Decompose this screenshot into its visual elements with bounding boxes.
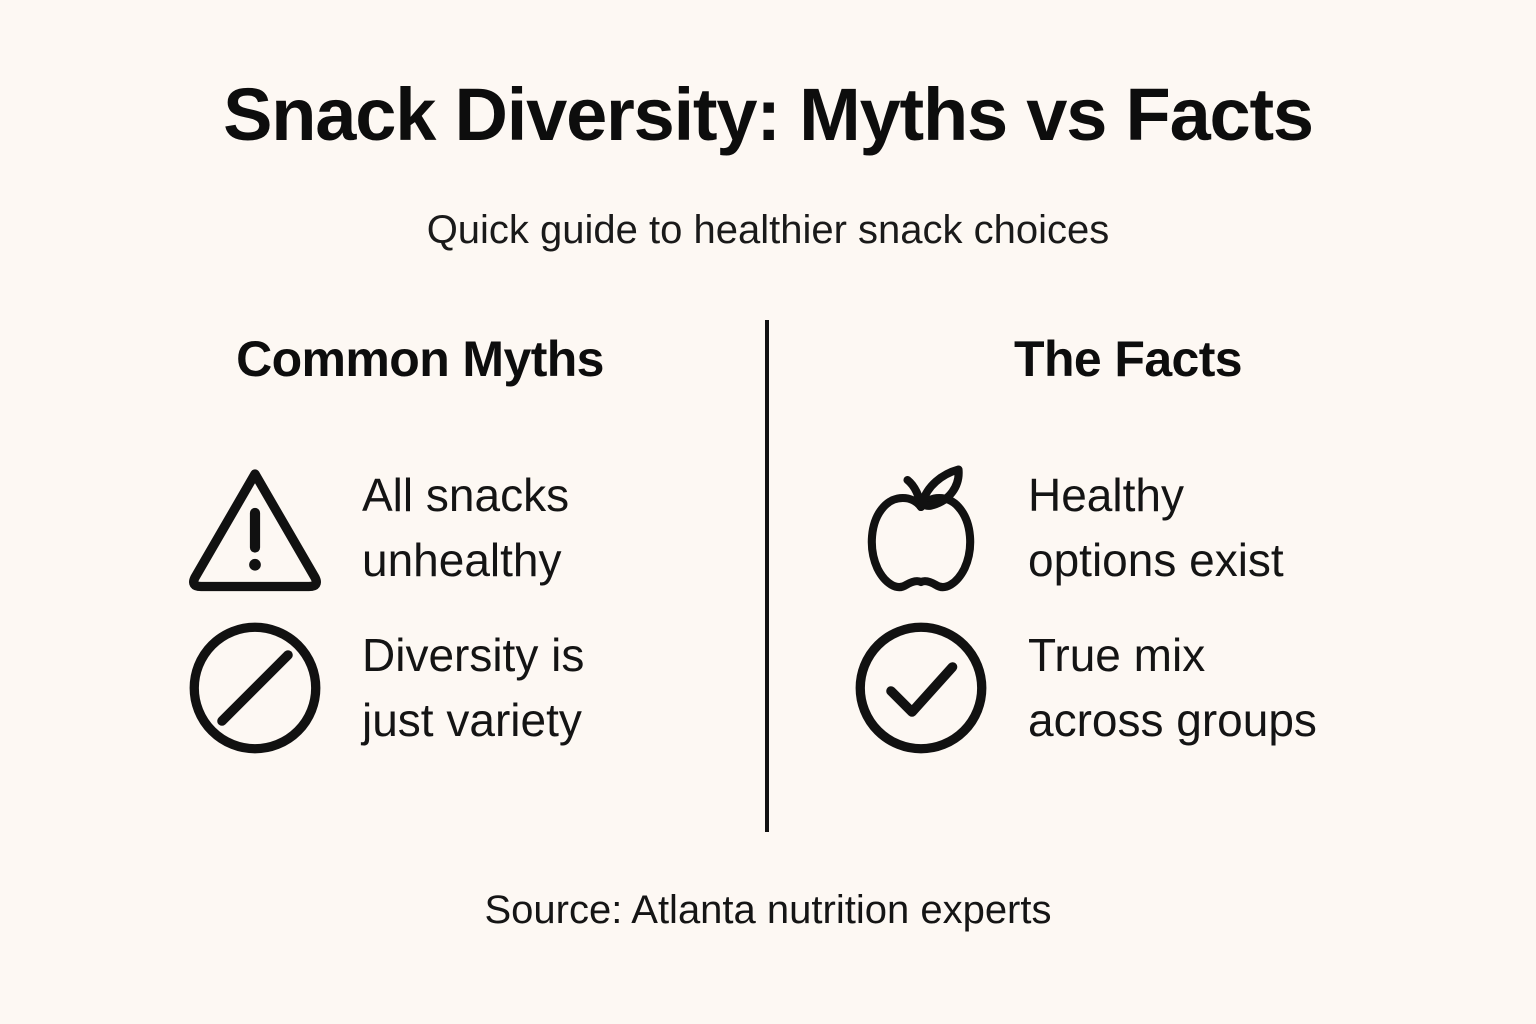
myth-list: All snacks unhealthy Diversity is just v… (70, 448, 770, 768)
check-circle-icon (846, 613, 996, 763)
comparison-columns: Common Myths All snacks unhealthy (0, 318, 1536, 838)
list-item-label: All snacks unhealthy (362, 463, 569, 594)
column-myths: Common Myths All snacks unhealthy (70, 318, 770, 768)
column-heading-facts: The Facts (768, 318, 1468, 388)
list-item: Healthy options exist (768, 448, 1468, 608)
warning-triangle-icon (180, 453, 330, 603)
circle-slash-icon (180, 613, 330, 763)
fact-list: Healthy options exist True mix across gr… (768, 448, 1468, 768)
list-item: Diversity is just variety (70, 608, 770, 768)
list-item-label: True mix across groups (1028, 623, 1317, 754)
list-item: All snacks unhealthy (70, 448, 770, 608)
poster-header: Snack Diversity: Myths vs Facts Quick gu… (0, 78, 1536, 250)
source-note: Source: Atlanta nutrition experts (0, 888, 1536, 933)
page-subtitle: Quick guide to healthier snack choices (0, 152, 1536, 250)
list-item-label: Healthy options exist (1028, 463, 1284, 594)
list-item-label: Diversity is just variety (362, 623, 584, 754)
apple-icon (846, 453, 996, 603)
column-facts: The Facts Healthy options exist (768, 318, 1468, 768)
list-item: True mix across groups (768, 608, 1468, 768)
infographic-poster: Snack Diversity: Myths vs Facts Quick gu… (0, 0, 1536, 1024)
page-title: Snack Diversity: Myths vs Facts (0, 78, 1536, 152)
column-heading-myths: Common Myths (70, 318, 770, 388)
